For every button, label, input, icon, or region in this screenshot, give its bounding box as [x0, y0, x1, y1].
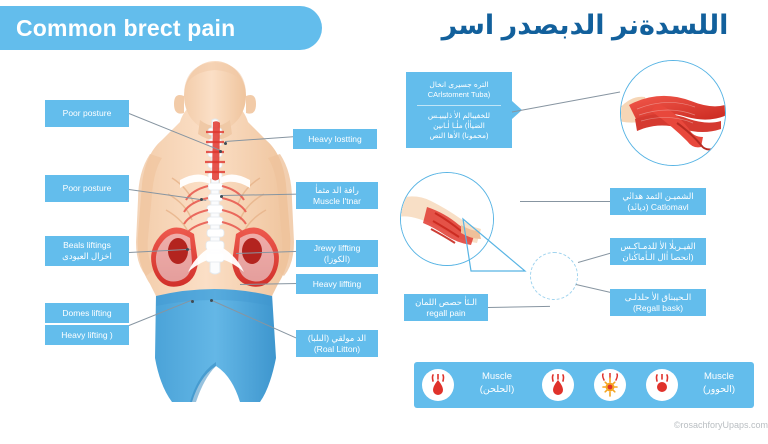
chip-divider — [417, 105, 501, 106]
label-heavy-lostting[interactable]: Heavy lostting — [293, 129, 377, 149]
label-roal-litton[interactable]: (الىلبا) الد مولقي (Roal Litton) — [296, 330, 378, 357]
icon-blood-drop-2[interactable] — [542, 369, 574, 401]
legend-icon-bar: Muscle (الحلحن) — [414, 362, 754, 408]
label-line-2: (Roal Litton) — [314, 344, 360, 355]
label-line-4: الضياٰاٰ) ملٰـا اٰـاىين — [433, 121, 485, 131]
label-catlomavl[interactable]: الشميـن الثمد هدانٰي Catlomavl (ديانٰد) — [610, 188, 706, 215]
label-line-2: (Regall bask) — [633, 303, 683, 314]
anchor-dot-5 — [224, 142, 227, 145]
page-title: Common brect pain — [0, 15, 235, 42]
label-line-1: (الىلبا) الد مولقي — [308, 333, 366, 344]
label-line-2: Catlomavl (ديانٰد) — [627, 202, 688, 213]
leader-line-unlabeled-mid — [578, 253, 611, 263]
label-line-1: Domes lifting — [62, 308, 111, 319]
arabic-page-title: اللسدةنر الدبصدر اسر — [415, 10, 755, 50]
label-line-2: اخزال العيودى — [62, 251, 112, 262]
infographic-canvas: Common brect pain اللسدةنر الدبصدر اسر — [0, 0, 768, 439]
label-line-1: التره جسيرى انخال — [429, 80, 488, 90]
anchor-dot-6 — [220, 195, 223, 198]
label-line-1: رافة الد مثماٰ — [315, 185, 359, 196]
anchor-dot-7 — [210, 299, 213, 302]
label-heavy-lifting-left[interactable]: Heavy lifting ) — [45, 325, 129, 345]
legend-line-1: Muscle — [482, 371, 512, 382]
label-line-1: Heavy lifting ) — [61, 330, 113, 341]
legend-label-muscle-1: Muscle (الحلحن) — [462, 370, 532, 396]
icon-sun-burst[interactable] — [594, 369, 626, 401]
anchor-dot-4 — [191, 300, 194, 303]
label-line-2: (الكوزا) — [324, 254, 350, 265]
icon-blood-drop-1[interactable] — [422, 369, 454, 401]
label-line-1: Beals liftings — [63, 240, 111, 251]
empty-placeholder-circle — [530, 252, 578, 300]
label-line-1: الـئاٰ حصص اللمان — [415, 297, 477, 308]
legend-line-2: (الحلحن) — [462, 383, 532, 396]
label-line-3: للخفيبالم الاٰ ذليبيـس — [428, 111, 490, 121]
leader-line-regall-pain — [488, 306, 550, 308]
label-regall-bask[interactable]: الـحيبناق الاٰ حلدلـى (Regall bask) — [610, 289, 706, 316]
label-line-1: الـحيبناق الاٰ حلدلـى — [625, 292, 691, 303]
label-domes-lifting[interactable]: Domes lifting — [45, 303, 129, 323]
label-poor-posture-1[interactable]: Poor posture — [45, 100, 129, 127]
label-line-1: Heavy liffting — [313, 279, 362, 290]
label-line-1: الشميـن الثمد هدانٰي — [622, 191, 693, 202]
label-line-2: regall pain — [426, 308, 465, 319]
legend-line-1: Muscle — [704, 371, 734, 382]
label-heavy-liffting[interactable]: Heavy liffting — [296, 274, 378, 294]
label-carstoment-tuba-wrapper[interactable]: التره جسيرى انخال CArlstoment Tuba) للخف… — [406, 72, 512, 148]
label-muscle-ftnar[interactable]: رافة الد مثماٰ Muscle I'tnar — [296, 182, 378, 209]
legend-line-2: (الحوور) — [684, 383, 754, 396]
watermark: ©rosachforyUpaps.com — [622, 420, 768, 430]
legend-label-muscle-2: Muscle (الحوور) — [684, 370, 754, 396]
label-line-2: CArlstoment Tuba) — [428, 90, 491, 100]
label-poor-posture-2[interactable]: Poor posture — [45, 175, 129, 202]
label-jrewy-liffting[interactable]: Jrewy liffting (الكوزا) — [296, 240, 378, 267]
label-line-1: Heavy lostting — [308, 134, 361, 145]
label-line-2: (انحصا اٰال الـاٰماكٰنان — [622, 252, 693, 263]
anchor-dot-3 — [186, 248, 189, 251]
label-line-1: Poor posture — [63, 183, 112, 194]
label-regall-pain[interactable]: الـئاٰ حصص اللمان regall pain — [404, 294, 488, 321]
muscle-anatomy-circle — [620, 60, 726, 166]
page-title-banner: Common brect pain — [0, 6, 322, 50]
label-line-1: الفيـربلٰا الاٰ للدمـاكـس — [620, 241, 695, 252]
human-back-illustration — [120, 58, 310, 439]
label-line-5: (محمونا) الاٰها النص — [429, 131, 488, 141]
anchor-dot-1 — [219, 150, 222, 153]
label-line-1: Poor posture — [63, 108, 112, 119]
label-line-1: Jrewy liffting — [314, 243, 361, 254]
connector-to-muscle-circle — [510, 74, 630, 144]
label-beals-liftings[interactable]: Beals liftings اخزال العيودى — [45, 236, 129, 266]
leader-line-catlomavl — [520, 201, 610, 202]
label-unlabeled-mid[interactable]: الفيـربلٰا الاٰ للدمـاكـس (انحصا اٰال ال… — [610, 238, 706, 265]
label-line-2: Muscle I'tnar — [313, 196, 361, 207]
icon-blood-dot[interactable] — [646, 369, 678, 401]
leader-line-regall-bask — [576, 284, 613, 294]
anchor-dot-2 — [200, 198, 203, 201]
